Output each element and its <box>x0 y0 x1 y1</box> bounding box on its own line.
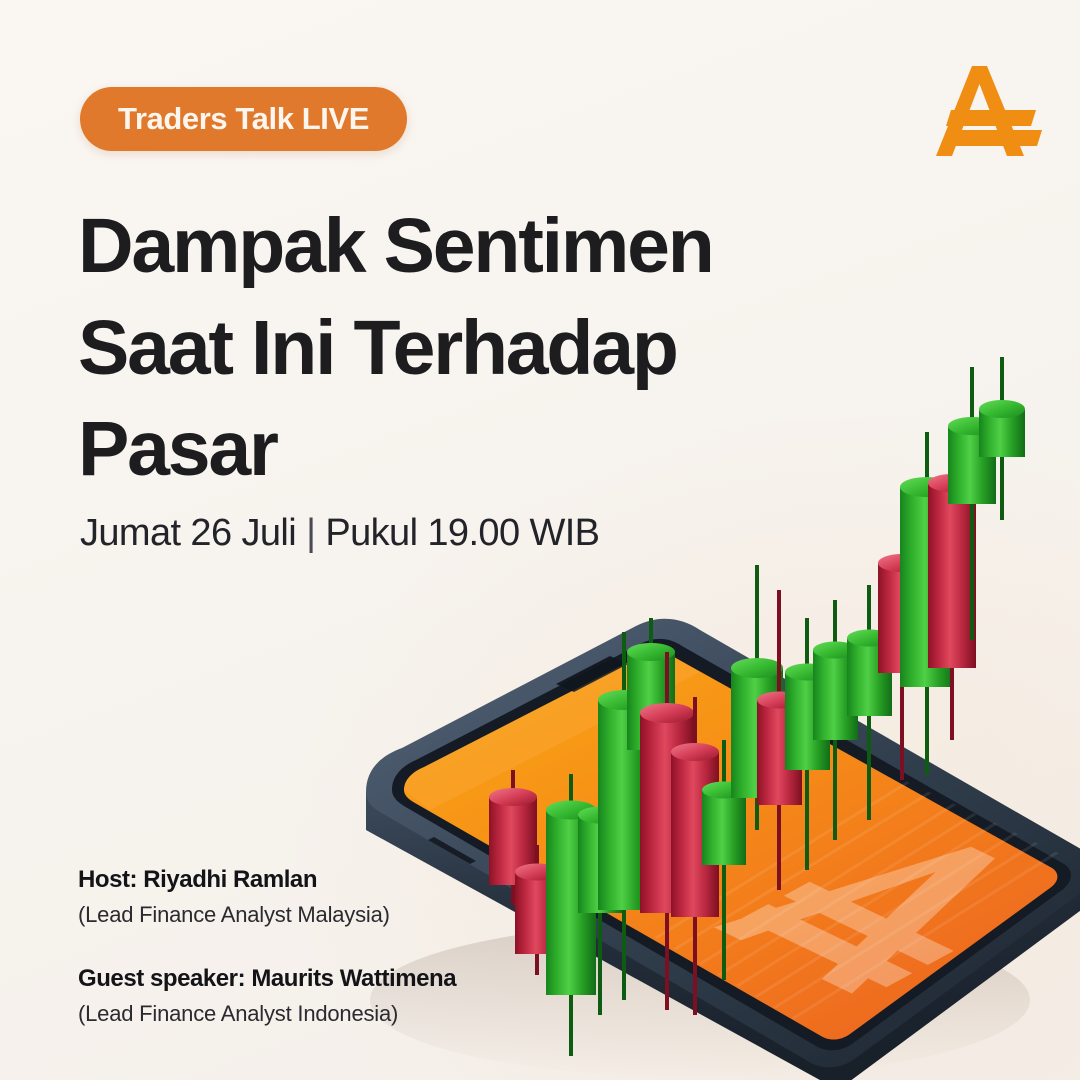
headline-line-2: Saat Ini Terhadap <box>78 298 818 400</box>
headline-line-3: Pasar <box>78 399 818 501</box>
schedule-line: Jumat 26 Juli|Pukul 19.00 WIB <box>80 512 599 555</box>
page-title: Dampak Sentimen Saat Ini Terhadap Pasar <box>78 196 818 501</box>
credit-host-role: (Lead Finance Analyst Malaysia) <box>78 899 548 931</box>
schedule-separator: | <box>306 512 315 555</box>
live-badge-label: Traders Talk LIVE <box>118 101 369 137</box>
schedule-time: Pukul 19.00 WIB <box>325 512 599 554</box>
live-badge[interactable]: Traders Talk LIVE <box>80 87 407 151</box>
promo-poster: Traders Talk LIVE Dampak Sentimen Saat I… <box>0 0 1080 1080</box>
schedule-date: Jumat 26 Juli <box>80 512 296 554</box>
credit-guest: Guest speaker: Maurits Wattimena (Lead F… <box>78 963 548 1030</box>
credit-host-name: Host: Riyadhi Ramlan <box>78 864 548 895</box>
credit-host: Host: Riyadhi Ramlan (Lead Finance Analy… <box>78 864 548 931</box>
credit-guest-name: Guest speaker: Maurits Wattimena <box>78 963 548 994</box>
credit-guest-role: (Lead Finance Analyst Indonesia) <box>78 998 548 1030</box>
headline-line-1: Dampak Sentimen <box>78 196 818 298</box>
credits-block: Host: Riyadhi Ramlan (Lead Finance Analy… <box>78 864 548 1030</box>
brand-a-logo-icon <box>932 58 1044 164</box>
